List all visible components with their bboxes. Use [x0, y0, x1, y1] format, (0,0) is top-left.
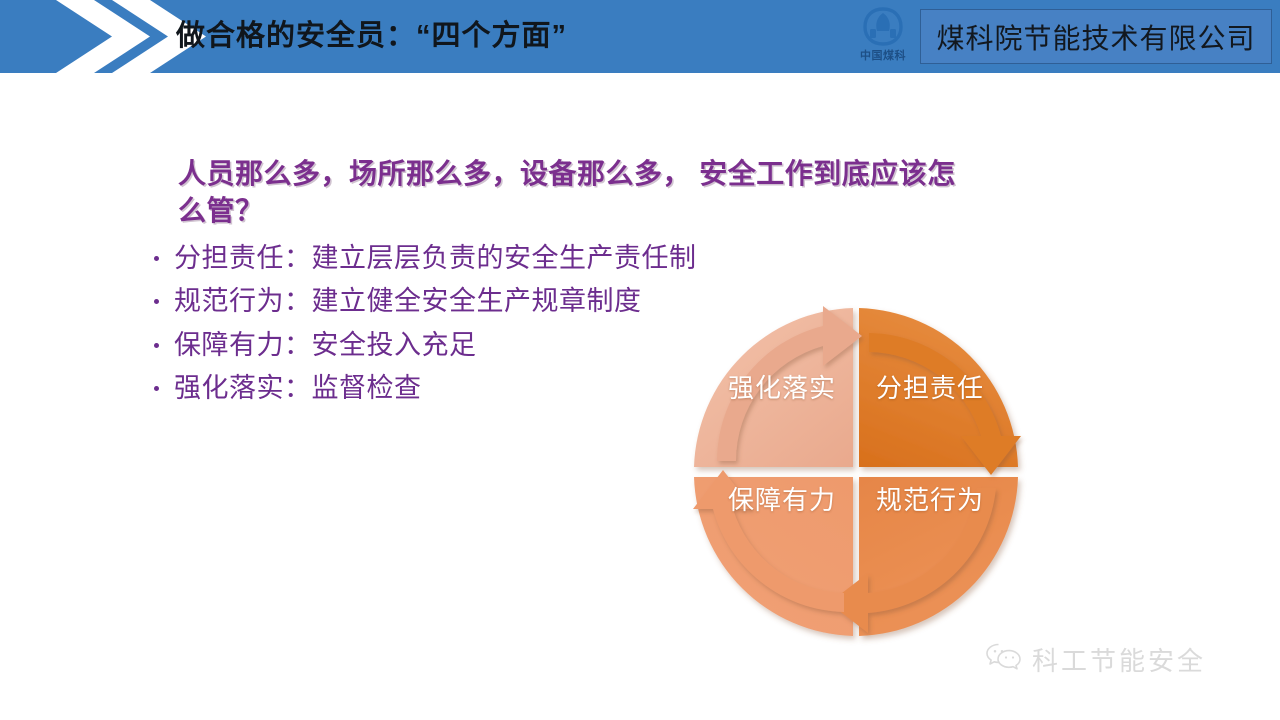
- china-coal-emblem-icon: [861, 7, 905, 47]
- bullet-label: 保障有力: [174, 330, 284, 360]
- page-title: 做合格的安全员：“四个方面”: [176, 0, 567, 73]
- bullet-dot-icon: [154, 256, 159, 261]
- bullet-label: 强化落实: [174, 373, 284, 403]
- slide: 做合格的安全员：“四个方面” 中国煤科 煤科院节能技术有限公司 人员那么多，场所…: [0, 0, 1280, 720]
- bullet-detail: 建立健全安全生产规章制度: [312, 286, 642, 316]
- bullet-detail: 监督检查: [312, 373, 422, 403]
- company-name: 煤科院节能技术有限公司: [936, 17, 1255, 57]
- bullet-separator: ：: [284, 286, 312, 316]
- slide-header: 做合格的安全员：“四个方面” 中国煤科 煤科院节能技术有限公司: [0, 0, 1280, 73]
- watermark: 科工节能安全: [985, 641, 1206, 678]
- wechat-icon: [985, 642, 1023, 677]
- bullet-detail: 建立层层负责的安全生产责任制: [312, 243, 697, 273]
- company-name-box: 煤科院节能技术有限公司: [920, 9, 1272, 64]
- bullet-separator: ：: [284, 373, 312, 403]
- quadrant-bottom-right: [859, 477, 1018, 636]
- bullet-dot-icon: [154, 343, 159, 348]
- bullet-detail: 安全投入充足: [312, 330, 477, 360]
- bullet-dot-icon: [154, 299, 159, 304]
- bullet-separator: ：: [284, 330, 312, 360]
- watermark-text: 科工节能安全: [1032, 641, 1206, 678]
- lead-paragraph: 人员那么多，场所那么多，设备那么多， 安全工作到底应该怎么管？: [178, 156, 978, 230]
- bullet-separator: ：: [284, 243, 312, 273]
- bullet-dot-icon: [154, 386, 159, 391]
- bullet-label: 分担责任: [174, 243, 284, 273]
- list-item: 分担责任：建立层层负责的安全生产责任制: [152, 240, 932, 277]
- bullet-label: 规范行为: [174, 286, 284, 316]
- brand-logo-caption: 中国煤科: [849, 47, 917, 63]
- brand-logo: 中国煤科: [849, 7, 917, 67]
- cycle-diagram: 强化落实 分担责任 保障有力 规范行为: [655, 276, 1055, 666]
